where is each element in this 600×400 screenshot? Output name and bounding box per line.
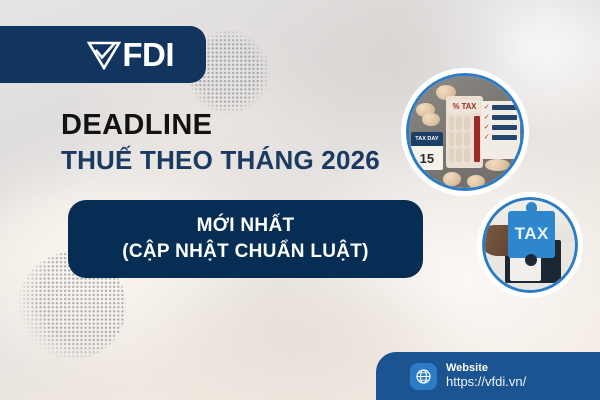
headline-subject: THUẾ THEO THÁNG 2026 [61,146,380,175]
globe-icon-svg [415,368,432,385]
v-check-icon [87,40,121,70]
callout-line-1: MỚI NHẤT [197,215,295,238]
globe-icon [410,363,437,390]
logo-text: FDI [122,38,174,71]
headline-block: DEADLINE THUẾ THEO THÁNG 2026 [61,110,380,176]
headline-deadline: DEADLINE [61,110,380,140]
poster-canvas: FDI DEADLINE THUẾ THEO THÁNG 2026 MỚI NH… [0,0,600,400]
website-url[interactable]: https://vfdi.vn/ [446,375,526,389]
tax-puzzle-photo: TAX [477,192,583,298]
website-footer-bar[interactable]: Website https://vfdi.vn/ [376,352,600,400]
logo-bar: FDI [0,26,206,83]
website-text: Website https://vfdi.vn/ [446,362,526,389]
callout-box: MỚI NHẤT (CẬP NHẬT CHUẨN LUẬT) [68,200,423,278]
website-label: Website [446,362,526,374]
brand-logo: FDI [87,38,174,71]
circle-white-ring [477,192,583,298]
callout-line-2: (CẬP NHẬT CHUẨN LUẬT) [122,241,369,264]
tax-calculator-photo: % TAX TAX DAY 15 ✓ [401,68,529,196]
circle-white-ring [401,68,529,196]
